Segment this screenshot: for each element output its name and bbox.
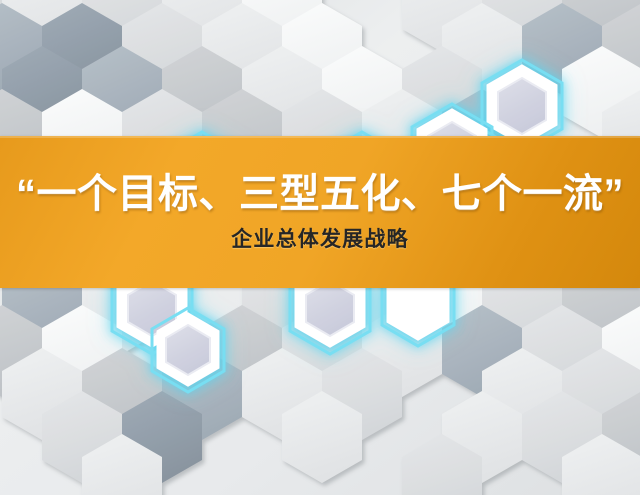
- banner-content: “一个目标、三型五化、七个一流” 企业总体发展战略: [0, 136, 640, 288]
- page-subtitle: 企业总体发展战略: [231, 228, 409, 251]
- presentation-slide: “一个目标、三型五化、七个一流” 企业总体发展战略: [0, 0, 640, 495]
- page-title: “一个目标、三型五化、七个一流”: [16, 173, 624, 216]
- title-banner: “一个目标、三型五化、七个一流” 企业总体发展战略: [0, 136, 640, 288]
